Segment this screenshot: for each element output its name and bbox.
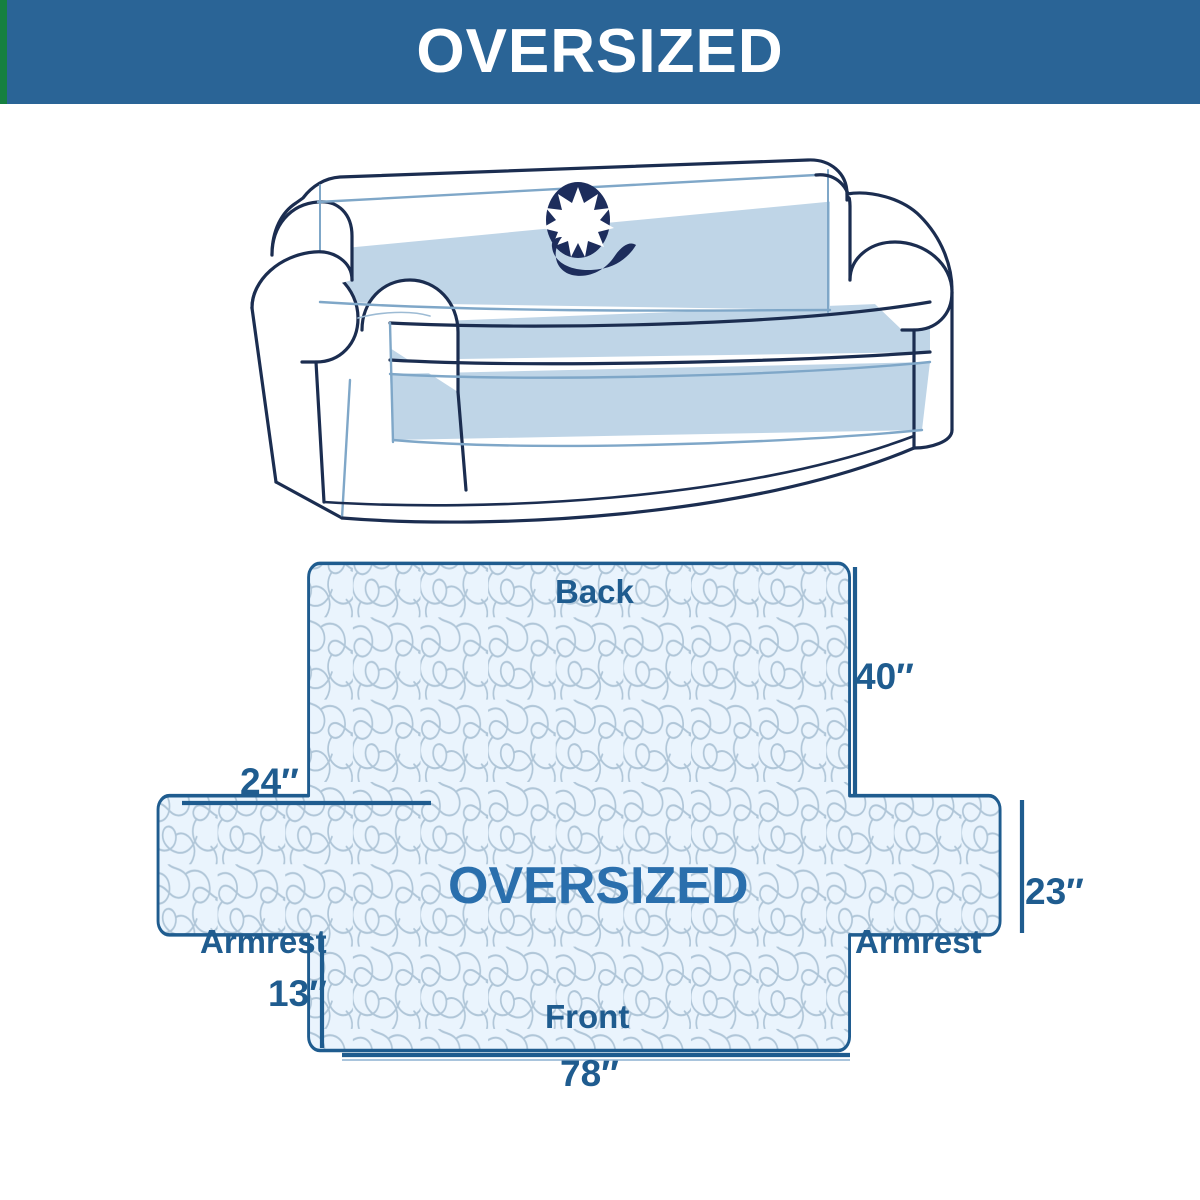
dimension-label-total-width: 78″ xyxy=(560,1055,619,1092)
panel-label-back: Back xyxy=(555,575,634,608)
panel-label-armrest-right: Armrest xyxy=(855,925,982,958)
dimension-label-back-offset: 24″ xyxy=(240,763,299,800)
page-title: OVERSIZED xyxy=(416,21,783,83)
sofa-illustration xyxy=(230,130,990,525)
header-accent-stripe xyxy=(0,0,7,104)
panel-label-front: Front xyxy=(545,1000,629,1033)
diagram-cross-shape xyxy=(152,563,1000,1125)
dimension-label-front-drop: 13″ xyxy=(268,975,327,1012)
size-chart-page: OVERSIZED xyxy=(0,0,1200,1200)
dimension-label-back-height: 40″ xyxy=(855,658,914,695)
diagram-center-label: OVERSIZED xyxy=(448,860,749,912)
panel-label-armrest-left: Armrest xyxy=(200,925,327,958)
header-banner: OVERSIZED xyxy=(0,0,1200,104)
size-diagram: Back Front Armrest Armrest OVERSIZED 40″… xyxy=(150,535,1110,1125)
dimension-label-armrest-height: 23″ xyxy=(1025,873,1084,910)
